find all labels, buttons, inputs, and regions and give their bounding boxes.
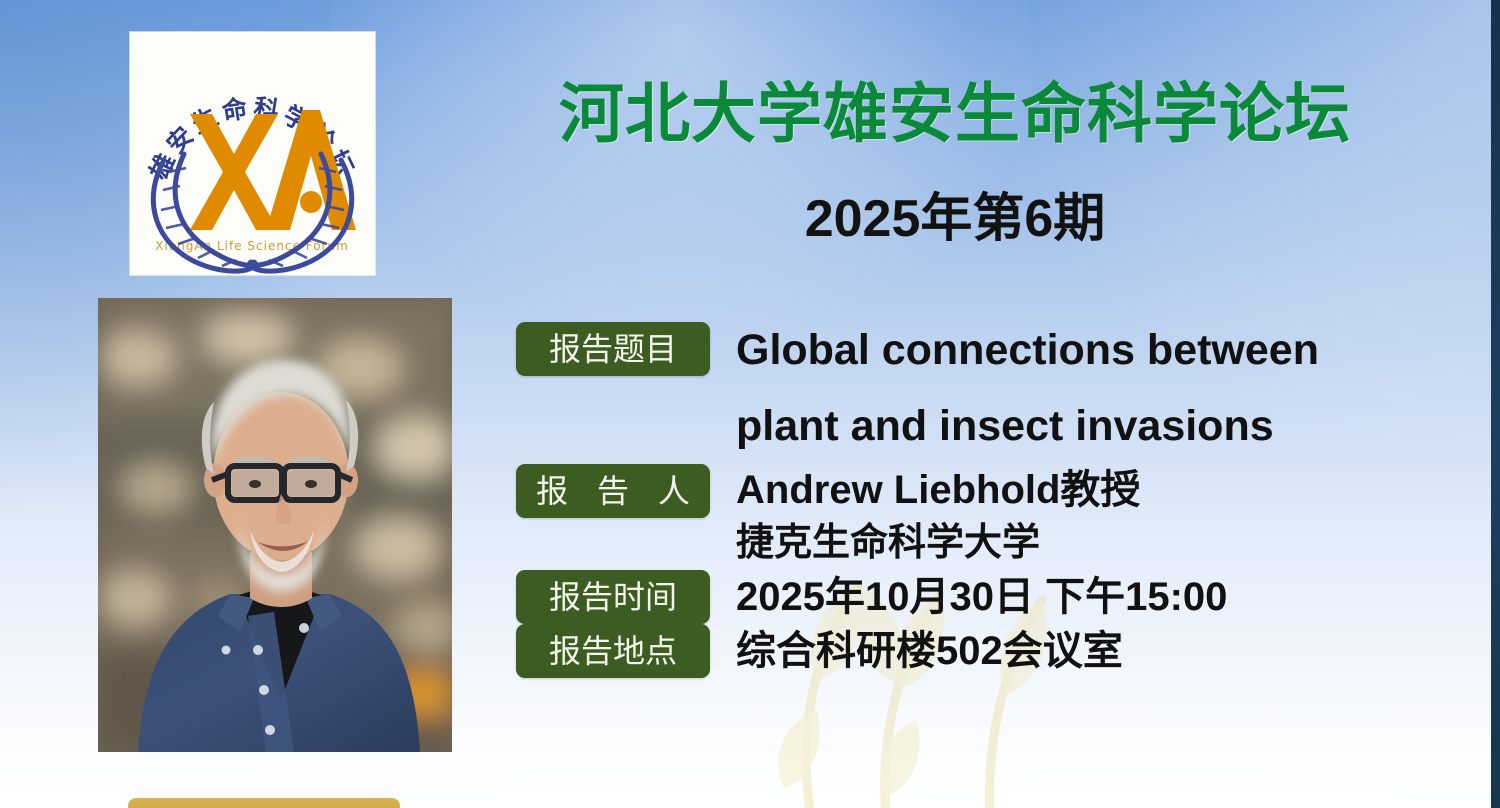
speaker-name: Andrew Liebhold教授: [736, 468, 1140, 512]
info-row-place: 报告地点 综合科研楼502会议室: [516, 624, 1446, 678]
info-row-time: 报告时间 2025年10月30日 下午15:00: [516, 570, 1446, 624]
label-time: 报告时间: [516, 570, 710, 624]
report-title-line1: Global connections between: [736, 326, 1319, 374]
label-speaker: 报 告 人: [516, 464, 710, 518]
issue-subtitle: 2025年第6期: [515, 188, 1395, 250]
speaker-photo: [98, 298, 452, 752]
label-report-title: 报告题目: [516, 322, 710, 376]
info-row-title: 报告题目 Global connections between plant an…: [516, 322, 1446, 464]
poster-root: 雄安生命科学论坛 XiongAn Life Science Forum: [0, 0, 1500, 808]
value-place: 综合科研楼502会议室: [710, 624, 1446, 678]
report-title-line2: plant and insect invasions: [736, 388, 1446, 464]
info-row-speaker: 报 告 人 Andrew Liebhold教授 捷克生命科学大学: [516, 464, 1446, 570]
forum-logo: 雄安生命科学论坛 XiongAn Life Science Forum: [130, 32, 375, 275]
value-report-title: Global connections between plant and ins…: [710, 312, 1446, 464]
sky-gradient-center: [330, 0, 1030, 330]
value-time: 2025年10月30日 下午15:00: [710, 570, 1446, 624]
bottom-gold-bar: [128, 798, 400, 808]
value-speaker: Andrew Liebhold教授 捷克生命科学大学: [710, 464, 1446, 570]
info-block: 报告题目 Global connections between plant an…: [516, 322, 1446, 678]
right-edge-strip: [1491, 0, 1500, 808]
page-title: 河北大学雄安生命科学论坛: [515, 78, 1395, 150]
speaker-affiliation: 捷克生命科学大学: [736, 516, 1446, 570]
label-place: 报告地点: [516, 624, 710, 678]
